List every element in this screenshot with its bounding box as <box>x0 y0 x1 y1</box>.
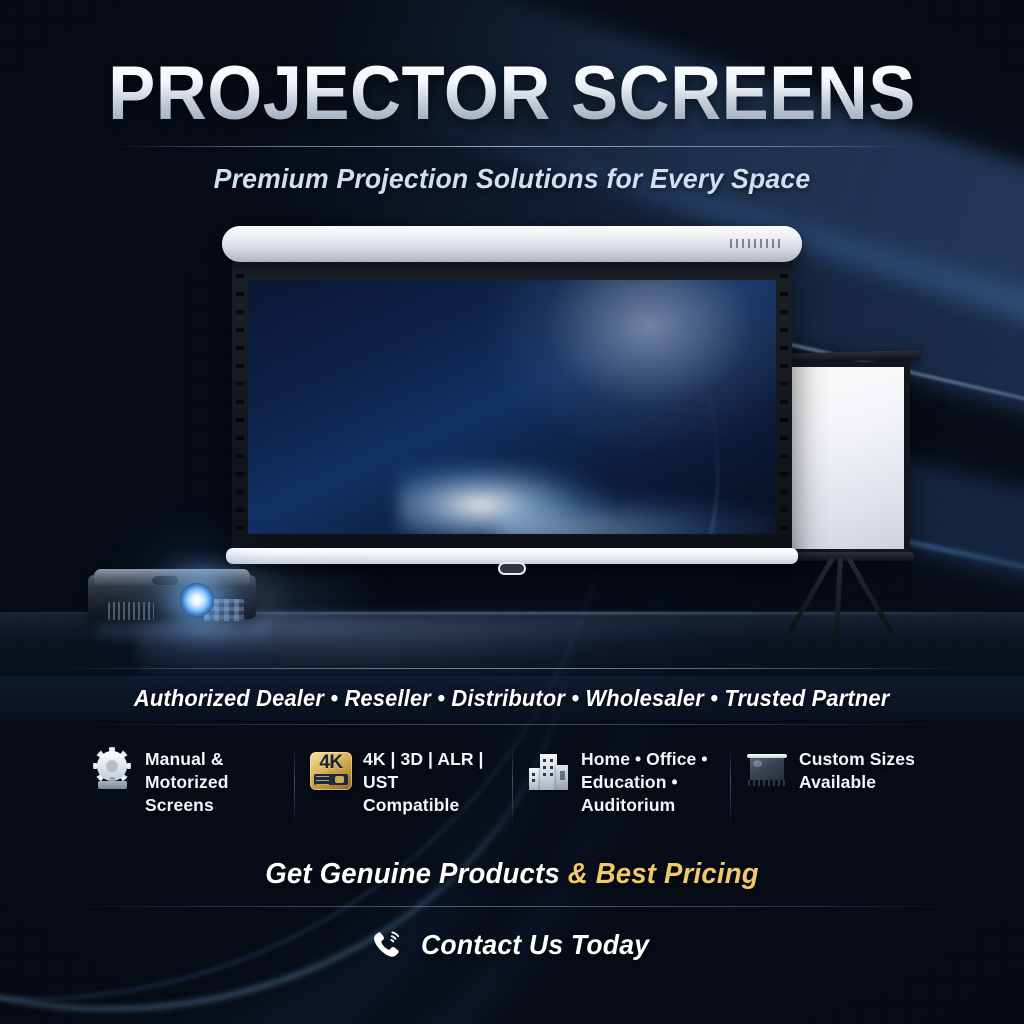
building-window <box>543 759 546 762</box>
motorized-projector-screen <box>232 226 792 586</box>
projector-lens-icon <box>180 583 214 617</box>
screen-projection-surface <box>248 280 776 534</box>
header: PROJECTOR SCREENS Premium Projection Sol… <box>0 56 1024 195</box>
feature-label: Manual & Motorized Screens <box>145 748 229 816</box>
tripod-leg-center <box>833 558 843 650</box>
building-window <box>550 766 553 769</box>
tab-tension-dots-left <box>236 274 244 536</box>
4k-badge-plate: 4K <box>310 752 352 790</box>
building-window <box>550 759 553 762</box>
feature-item-4k-compatible: 4K 4K | 3D | ALR | UST Compatible <box>294 740 512 824</box>
partner-strip: Authorized Dealer • Reseller • Distribut… <box>0 676 1024 720</box>
page-title: PROJECTOR SCREENS <box>36 56 988 132</box>
buildings-group-icon <box>529 752 569 790</box>
projector-floor-reflection <box>98 623 268 645</box>
feature-label: Home • Office • Education • Auditorium <box>581 748 708 816</box>
4k-badge-icon: 4K <box>310 750 352 792</box>
building-window <box>543 773 546 776</box>
contact-cta[interactable]: Contact Us Today <box>0 929 1024 961</box>
projector-focus-dial <box>152 576 178 585</box>
video-projector <box>88 565 264 627</box>
tripod-leg-left <box>787 557 834 634</box>
page-subtitle: Premium Projection Solutions for Every S… <box>26 163 999 195</box>
partner-strip-divider-top <box>56 668 968 669</box>
feature-line: Manual & <box>145 748 229 771</box>
feature-line: 4K | 3D | ALR | <box>363 748 496 771</box>
building-window <box>560 771 565 780</box>
feature-line: Custom Sizes <box>799 748 915 771</box>
poster-canvas: PROJECTOR SCREENS Premium Projection Sol… <box>0 0 1024 1024</box>
screen-pull-handle <box>498 562 526 575</box>
building-center-icon <box>540 754 557 790</box>
feature-label: Custom Sizes Available <box>799 748 915 794</box>
building-window <box>532 779 535 782</box>
building-window <box>532 773 535 776</box>
feature-row: Manual & Motorized Screens 4K 4K | 3D | … <box>0 740 1024 850</box>
building-window <box>543 766 546 769</box>
gear-hub-icon <box>106 760 118 772</box>
screen-hotspot-secondary <box>498 495 776 534</box>
building-window <box>550 773 553 776</box>
tripod-top-rail <box>772 350 920 363</box>
feature-line: Home • Office • <box>581 748 708 771</box>
contact-cta-label: Contact Us Today <box>421 929 649 961</box>
call-to-action: Get Genuine Products & Best Pricing Cont… <box>0 858 1024 961</box>
feature-line: Auditorium <box>581 794 708 817</box>
phone-ringing-icon[interactable] <box>369 929 403 961</box>
feature-item-manual-motorized: Manual & Motorized Screens <box>76 740 294 824</box>
gear-stand-base-icon <box>98 781 127 789</box>
screen-black-border <box>232 258 792 552</box>
cta-divider <box>62 906 962 907</box>
cta-headline-primary: Get Genuine Products <box>265 858 568 890</box>
feature-line: UST Compatible <box>363 771 496 817</box>
projector-top-shell <box>94 569 250 585</box>
custom-screen-surface <box>750 758 784 780</box>
buildings-icon <box>528 750 570 792</box>
tripod-leg-right <box>846 557 893 634</box>
screen-top-casing <box>222 226 802 262</box>
feature-item-custom-sizes: Custom Sizes Available <box>730 740 948 802</box>
feature-item-venues: Home • Office • Education • Auditorium <box>512 740 730 824</box>
custom-screen-icon <box>746 750 788 792</box>
feature-line: Available <box>799 771 915 794</box>
custom-screen-glyph <box>747 754 787 788</box>
feature-label: 4K | 3D | ALR | UST Compatible <box>363 748 496 816</box>
4k-badge-label: 4K <box>319 753 342 772</box>
building-right-icon <box>556 765 568 790</box>
projector-vent-grille-icon <box>108 602 154 620</box>
custom-screen-base <box>748 780 786 786</box>
title-divider <box>112 146 912 147</box>
4k-badge-detail-strip <box>314 774 348 785</box>
feature-line: Screens <box>145 794 229 817</box>
casing-vent-grille-icon <box>730 239 780 248</box>
gear-screen-icon <box>92 750 134 792</box>
feature-line: Motorized <box>145 771 229 794</box>
cta-headline: Get Genuine Products & Best Pricing <box>26 858 999 891</box>
tab-tension-dots-right <box>780 274 788 536</box>
cta-headline-accent: & Best Pricing <box>568 858 759 890</box>
partner-strip-text: Authorized Dealer • Reseller • Distribut… <box>134 685 890 712</box>
partner-strip-divider-bottom <box>56 724 968 725</box>
feature-line: Education • <box>581 771 708 794</box>
